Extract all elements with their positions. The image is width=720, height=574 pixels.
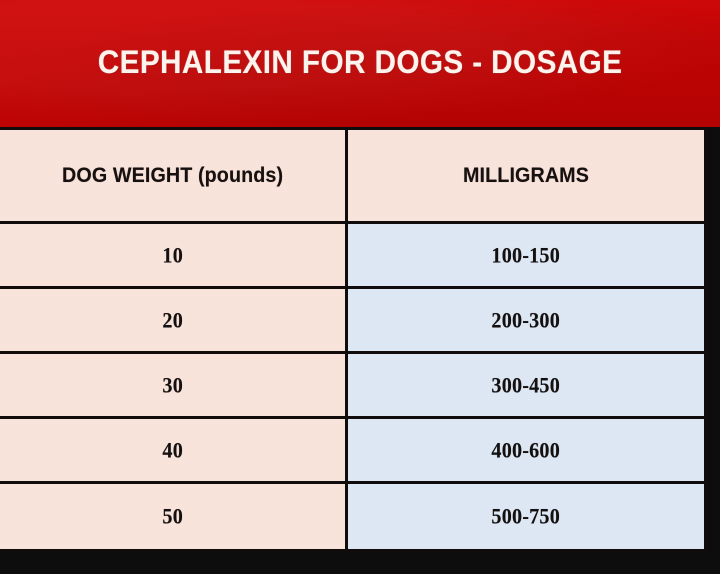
column-header-dog-weight: DOG WEIGHT (pounds): [62, 164, 283, 188]
cell-dog-weight: 50: [0, 484, 348, 549]
dog-weight-value: 40: [162, 437, 183, 464]
dog-weight-value: 30: [162, 372, 183, 399]
column-header-milligrams: MILLIGRAMS: [463, 164, 589, 188]
dog-weight-value: 20: [162, 307, 183, 334]
milligrams-value: 300-450: [492, 372, 561, 399]
table-row: 50 500-750: [0, 484, 704, 549]
milligrams-value: 200-300: [492, 307, 561, 334]
table-header-row: DOG WEIGHT (pounds) MILLIGRAMS: [0, 130, 704, 224]
cell-dog-weight: 10: [0, 224, 348, 286]
cell-milligrams: 500-750: [348, 484, 704, 549]
milligrams-value: 100-150: [492, 242, 561, 269]
cell-milligrams: 100-150: [348, 224, 704, 286]
dog-weight-value: 10: [162, 242, 183, 269]
table-header-cell-weight: DOG WEIGHT (pounds): [0, 130, 348, 221]
dog-weight-value: 50: [162, 503, 183, 530]
cell-milligrams: 400-600: [348, 419, 704, 481]
cell-milligrams: 200-300: [348, 289, 704, 351]
table-row: 10 100-150: [0, 224, 704, 289]
title-banner: CEPHALEXIN FOR DOGS - DOSAGE: [0, 0, 720, 127]
table-row: 20 200-300: [0, 289, 704, 354]
cell-dog-weight: 20: [0, 289, 348, 351]
cell-dog-weight: 30: [0, 354, 348, 416]
page-title: CEPHALEXIN FOR DOGS - DOSAGE: [98, 44, 623, 83]
table-header-cell-milligrams: MILLIGRAMS: [348, 130, 704, 221]
dosage-table: DOG WEIGHT (pounds) MILLIGRAMS 10 100-15…: [0, 127, 707, 553]
dosage-chart-page: CEPHALEXIN FOR DOGS - DOSAGE DOG WEIGHT …: [0, 0, 720, 574]
milligrams-value: 500-750: [492, 503, 561, 530]
milligrams-value: 400-600: [492, 437, 561, 464]
table-row: 30 300-450: [0, 354, 704, 419]
cell-dog-weight: 40: [0, 419, 348, 481]
cell-milligrams: 300-450: [348, 354, 704, 416]
table-row: 40 400-600: [0, 419, 704, 484]
